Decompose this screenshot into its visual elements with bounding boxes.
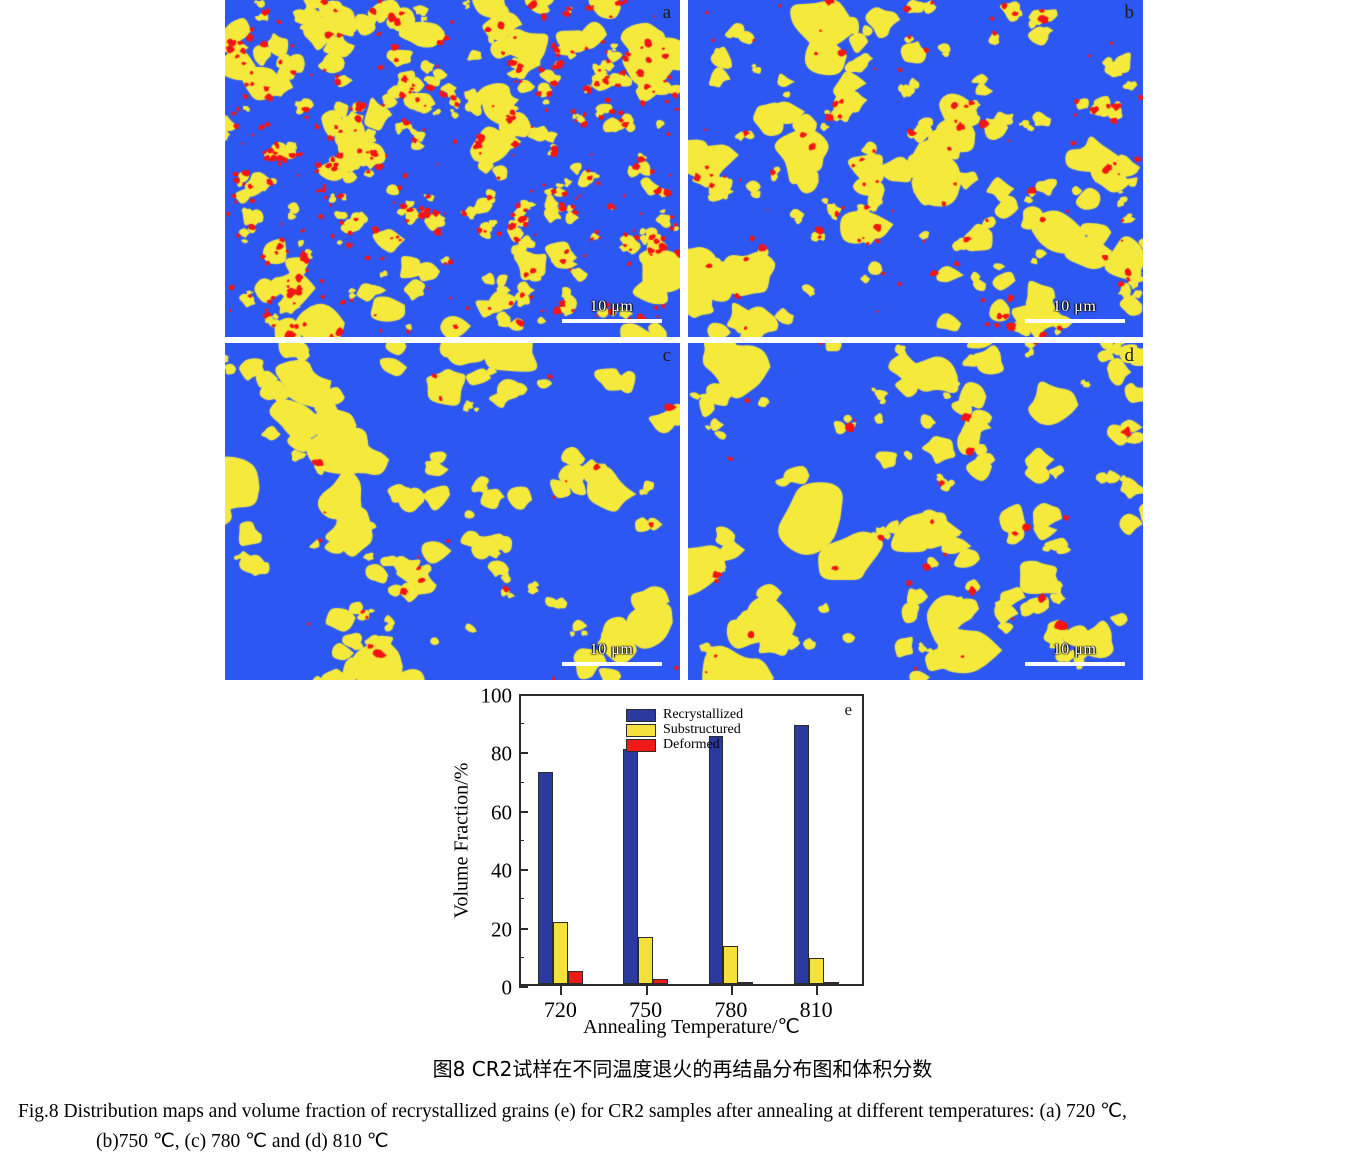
y-tick-label-20: 20	[491, 917, 512, 942]
ebsd-panel-grid: a 10 μm b 10 μm c 10 μm d 10 μm	[225, 0, 1143, 681]
legend-item-recrystallized: Recrystallized	[626, 708, 743, 722]
bar-750-substructured	[638, 937, 653, 984]
scale-bar-d: 10 μm	[1022, 642, 1127, 666]
ebsd-map-canvas-d	[688, 343, 1143, 680]
chart-legend: RecrystallizedSubstructuredDeformed	[626, 708, 743, 753]
y-axis-title: Volume Fraction/%	[449, 694, 475, 986]
y-axis-title-text: Volume Fraction/%	[451, 762, 474, 918]
legend-label-substructured: Substructured	[663, 723, 741, 737]
scale-bar-label-d: 10 μm	[1022, 642, 1127, 659]
bar-810-recrystallized	[794, 725, 809, 984]
y-tick-minor-30	[519, 898, 524, 899]
legend-item-deformed: Deformed	[626, 738, 743, 752]
bar-750-deformed	[653, 979, 668, 984]
caption-en-line-2: (b)750 ℃, (c) 780 ℃ and (d) 810 ℃	[96, 1127, 1350, 1157]
scale-bar-c: 10 μm	[559, 642, 664, 666]
x-tick-750	[646, 986, 648, 995]
y-tick-minor-70	[519, 782, 524, 783]
legend-swatch-deformed	[626, 739, 656, 752]
volume-fraction-bar-chart: Volume Fraction/% e RecrystallizedSubstr…	[455, 688, 935, 1040]
ebsd-panel-c: c 10 μm	[225, 343, 680, 680]
panel-label-c: c	[663, 346, 671, 365]
y-tick-20: 20	[519, 928, 528, 930]
scale-bar-line-a	[562, 319, 662, 323]
caption-en-line-1: Fig.8 Distribution maps and volume fract…	[18, 1101, 1127, 1122]
scale-bar-label-a: 10 μm	[559, 299, 664, 316]
x-tick-810	[816, 986, 818, 995]
legend-swatch-substructured	[626, 724, 656, 737]
x-tick-720	[560, 986, 562, 995]
scale-bar-line-b	[1025, 319, 1125, 323]
y-tick-minor-50	[519, 840, 524, 841]
y-tick-60: 60	[519, 811, 528, 813]
y-tick-minor-90	[519, 723, 524, 724]
bar-720-recrystallized	[538, 772, 553, 984]
x-tick-780	[731, 986, 733, 995]
panel-label-d: d	[1125, 346, 1135, 365]
scale-bar-line-c	[562, 662, 662, 666]
bar-720-substructured	[553, 922, 568, 984]
ebsd-map-canvas-c	[225, 343, 680, 680]
y-tick-80: 80	[519, 752, 528, 754]
legend-label-recrystallized: Recrystallized	[663, 708, 743, 722]
chart-plot-frame: e RecrystallizedSubstructuredDeformed	[519, 694, 864, 986]
x-axis-title: Annealing Temperature/℃	[519, 1014, 864, 1039]
ebsd-panel-a: a 10 μm	[225, 0, 680, 337]
bar-720-deformed	[568, 971, 583, 984]
y-tick-100: 100	[519, 694, 528, 696]
panel-label-a: a	[663, 3, 671, 22]
legend-label-deformed: Deformed	[663, 738, 720, 752]
y-tick-label-0: 0	[502, 976, 513, 1001]
bar-780-substructured	[723, 946, 738, 984]
figure-caption-chinese: 图8 CR2试样在不同温度退火的再结晶分布图和体积分数	[0, 1053, 1365, 1082]
scale-bar-label-b: 10 μm	[1022, 299, 1127, 316]
y-tick-40: 40	[519, 869, 528, 871]
panel-label-b: b	[1125, 3, 1135, 22]
ebsd-map-canvas-a	[225, 0, 680, 337]
bar-780-recrystallized	[709, 736, 724, 984]
panel-label-e: e	[844, 700, 852, 720]
scale-bar-label-c: 10 μm	[559, 642, 664, 659]
ebsd-panel-d: d 10 μm	[688, 343, 1143, 680]
scale-bar-b: 10 μm	[1022, 299, 1127, 323]
figure-caption-english: Fig.8 Distribution maps and volume fract…	[18, 1097, 1350, 1157]
y-tick-0: 0	[519, 986, 528, 988]
ebsd-map-canvas-b	[688, 0, 1143, 337]
y-tick-label-60: 60	[491, 800, 512, 825]
legend-swatch-recrystallized	[626, 709, 656, 722]
scale-bar-a: 10 μm	[559, 299, 664, 323]
y-tick-label-40: 40	[491, 859, 512, 884]
bar-750-recrystallized	[623, 749, 638, 984]
y-tick-label-100: 100	[481, 684, 513, 709]
ebsd-panel-b: b 10 μm	[688, 0, 1143, 337]
y-tick-label-80: 80	[491, 742, 512, 767]
bar-780-deformed	[738, 982, 753, 984]
bar-810-substructured	[809, 958, 824, 984]
y-tick-minor-10	[519, 957, 524, 958]
legend-item-substructured: Substructured	[626, 723, 743, 737]
scale-bar-line-d	[1025, 662, 1125, 666]
bar-810-deformed	[824, 982, 839, 984]
